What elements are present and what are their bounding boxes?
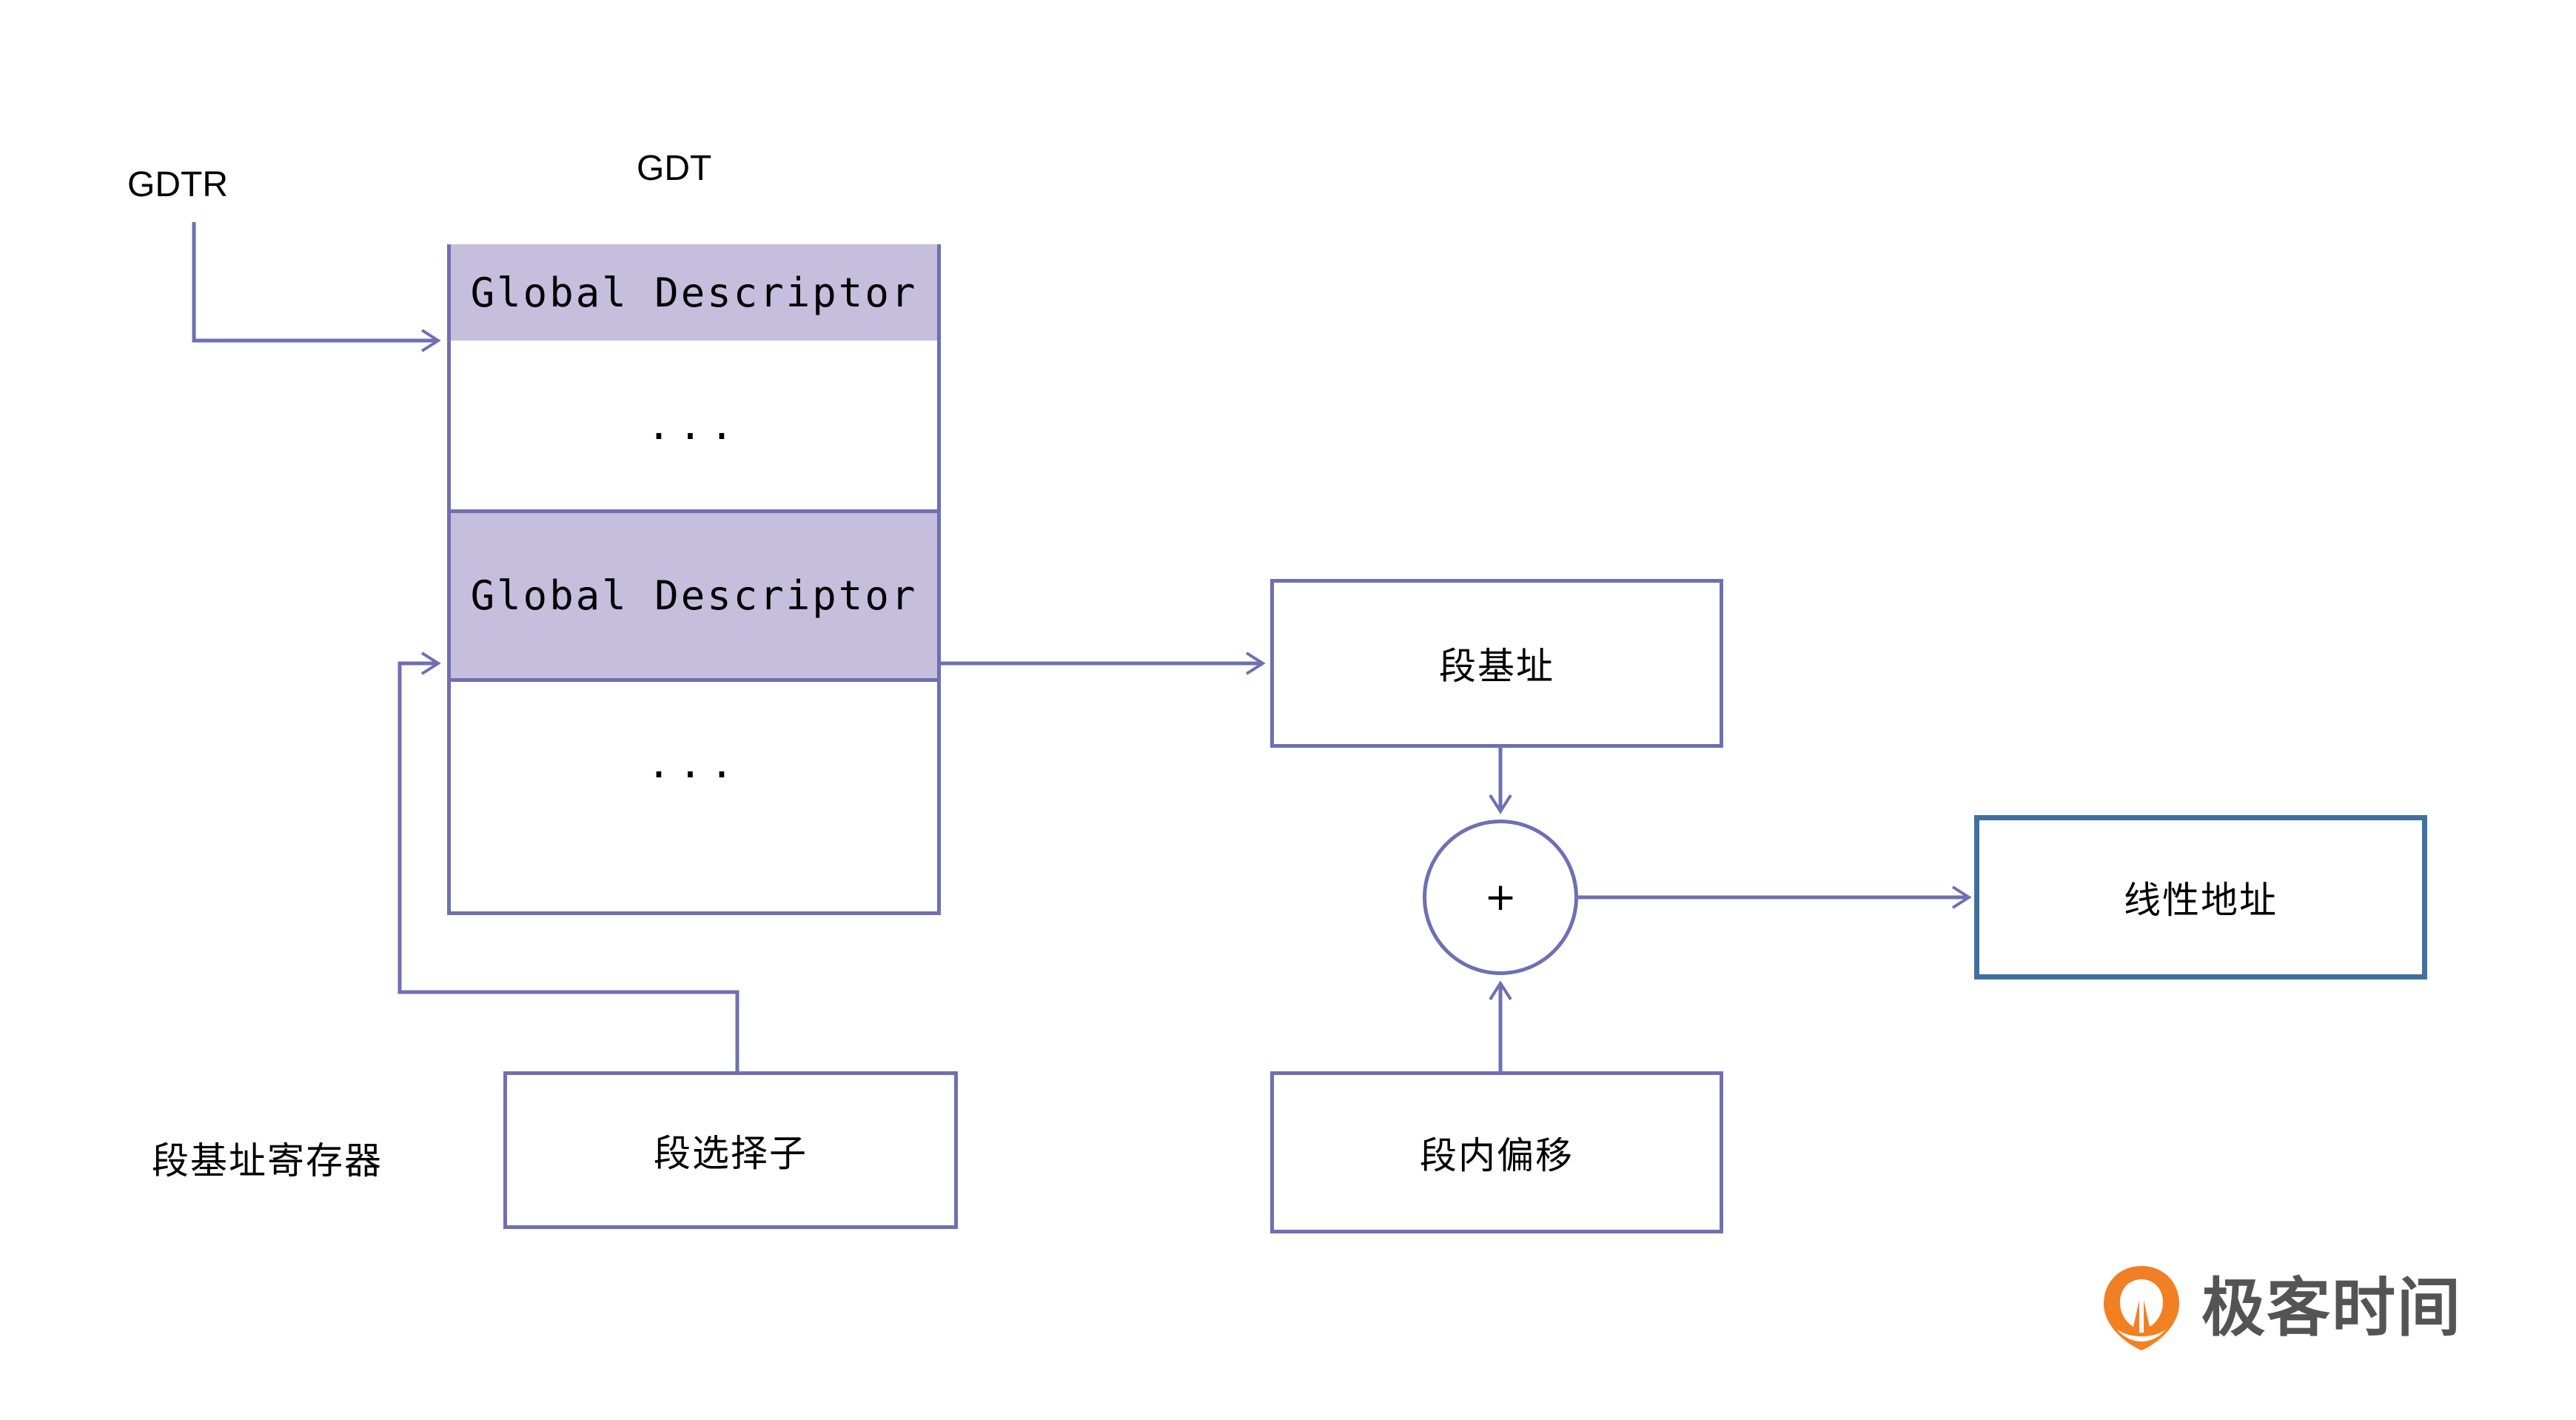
gdt-row-ellipsis: ... [647, 740, 742, 787]
label-gdt-title: GDT [637, 148, 711, 189]
watermark-logo: 极客时间 [2101, 1265, 2462, 1352]
gdt-row[interactable]: ... [451, 678, 937, 845]
geek-time-pin-icon [2101, 1265, 2182, 1352]
box-linear-address[interactable]: 线性地址 [1974, 815, 2427, 979]
box-segment-selector[interactable]: 段选择子 [503, 1071, 958, 1229]
watermark-brand-text: 极客时间 [2201, 1276, 2462, 1340]
gdt-table: Global Descriptor ... Global Descriptor … [447, 244, 941, 915]
gdt-row[interactable]: ... [451, 341, 937, 509]
gdt-row-ellipsis: ... [647, 402, 742, 449]
adder-circle[interactable]: + [1423, 820, 1578, 975]
gdt-row[interactable]: Global Descriptor [451, 509, 937, 678]
connector-gdtr-to-descriptor [194, 222, 438, 341]
label-gdtr: GDTR [127, 164, 228, 205]
label-segment-base-register: 段基址寄存器 [152, 1131, 383, 1185]
gdt-row[interactable]: Global Descriptor [451, 244, 937, 341]
box-segment-base[interactable]: 段基址 [1270, 579, 1723, 748]
box-segment-offset[interactable]: 段内偏移 [1270, 1071, 1723, 1233]
